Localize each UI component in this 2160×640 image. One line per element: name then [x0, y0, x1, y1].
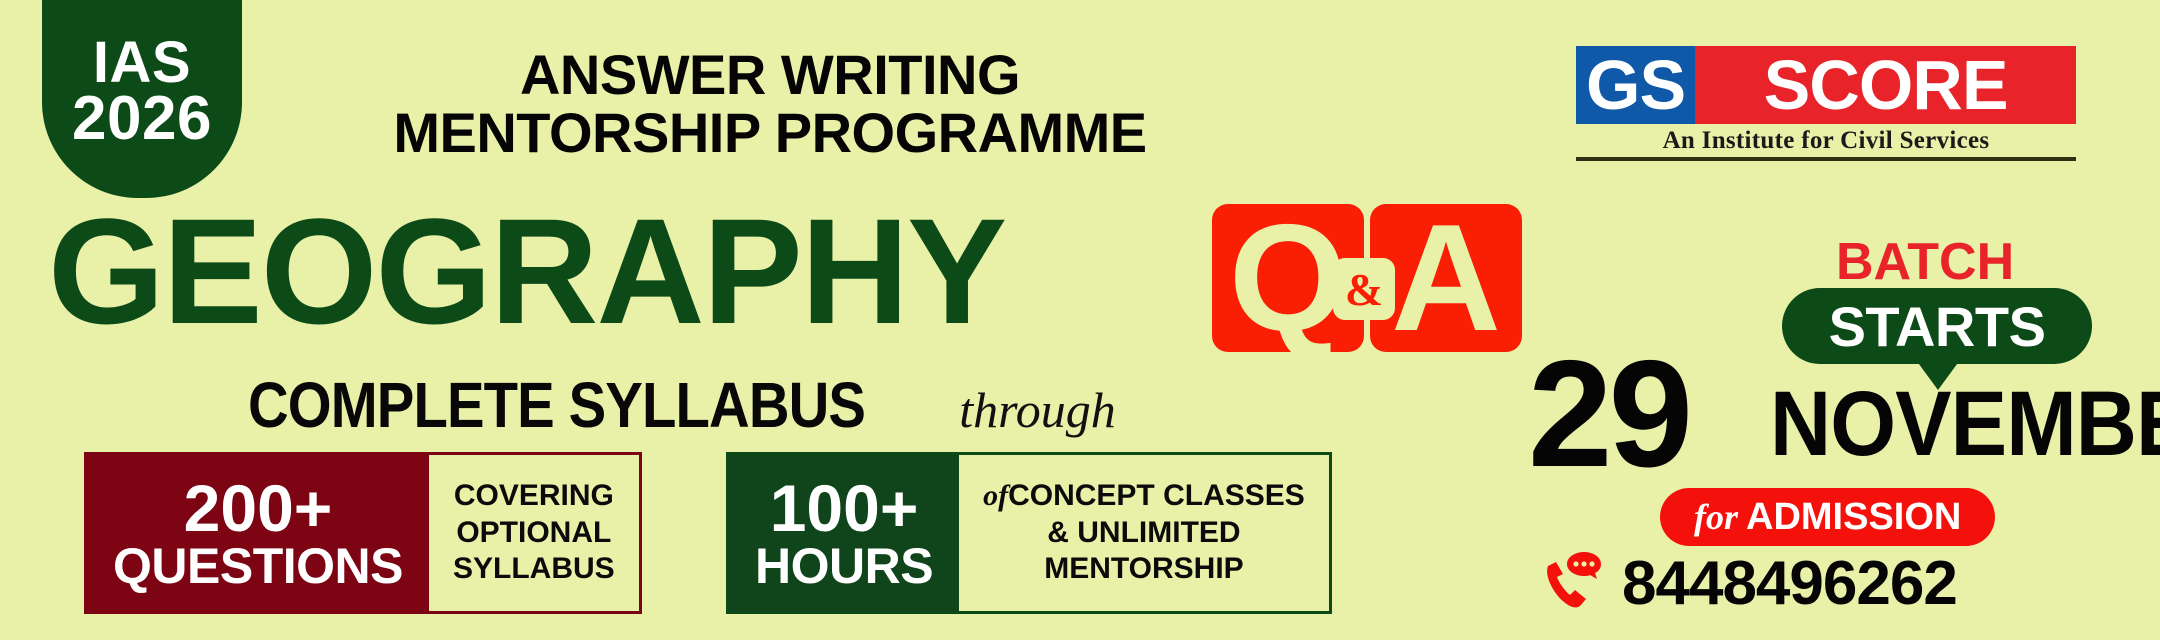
q-letter: Q [1229, 202, 1347, 354]
feature-questions: 200+ QUESTIONS COVERING OPTIONAL SYLLABU… [84, 452, 642, 614]
feature-hours-prefix: of [983, 479, 1008, 512]
through-text: through [959, 381, 1116, 439]
feature-questions-detail-1: COVERING [454, 478, 614, 515]
badge-line-2: 2026 [72, 90, 212, 149]
headline-line-1: ANSWER WRITING [330, 46, 1210, 104]
promo-banner: IAS 2026 ANSWER WRITING MENTORSHIP PROGR… [0, 0, 2160, 640]
badge-line-1: IAS [93, 35, 191, 90]
feature-questions-figure: 200+ QUESTIONS [87, 455, 429, 611]
feature-questions-detail: COVERING OPTIONAL SYLLABUS [429, 455, 639, 611]
feature-hours-detail-1-text: CONCEPT CLASSES [1008, 479, 1305, 512]
ias-year-badge: IAS 2026 [42, 0, 242, 198]
feature-hours-detail-1: ofCONCEPT CLASSES [983, 478, 1305, 515]
logo-underline-rule [1576, 157, 2076, 161]
ampersand-chip: & [1333, 258, 1395, 320]
feature-hours-figure: 100+ HOURS [729, 455, 959, 611]
logo-score-box: SCORE [1695, 46, 2076, 124]
syllabus-text: COMPLETE SYLLABUS [248, 368, 865, 442]
admission-pill[interactable]: for ADMISSION [1660, 488, 1995, 546]
feature-hours-detail-2: & UNLIMITED [1047, 515, 1240, 552]
logo-score-text: SCORE [1764, 50, 2008, 120]
logo-gs-text: GS [1586, 50, 1685, 120]
starts-label: STARTS [1829, 294, 2046, 359]
headline-line-2: MENTORSHIP PROGRAMME [330, 104, 1210, 162]
feature-hours-number: 100+ [770, 475, 919, 541]
feature-questions-number: 200+ [184, 475, 333, 541]
batch-label: BATCH [1836, 232, 2014, 292]
logo-gs-box: GS [1576, 46, 1695, 124]
a-letter: A [1391, 202, 1501, 354]
phone-chat-icon [1540, 550, 1614, 617]
starts-pill: STARTS [1782, 288, 2092, 364]
start-day: 29 [1528, 338, 1689, 490]
feature-hours-label: HOURS [755, 541, 933, 591]
start-month: NOVEMBER [1770, 378, 2160, 470]
logo-wordmark: GS SCORE [1576, 46, 2076, 124]
syllabus-subtitle: COMPLETE SYLLABUS through [248, 368, 1116, 442]
feature-hours-detail: ofCONCEPT CLASSES & UNLIMITED MENTORSHIP [959, 455, 1329, 611]
feature-questions-detail-3: SYLLABUS [453, 551, 615, 588]
feature-hours: 100+ HOURS ofCONCEPT CLASSES & UNLIMITED… [726, 452, 1332, 614]
admission-label: ADMISSION [1746, 496, 1961, 539]
gs-score-logo: GS SCORE An Institute for Civil Services [1576, 46, 2076, 161]
feature-questions-label: QUESTIONS [113, 541, 403, 591]
subject-title: GEOGRAPHY [48, 196, 1005, 346]
programme-headline: ANSWER WRITING MENTORSHIP PROGRAMME [330, 46, 1210, 161]
contact-phone-row[interactable]: 8448496262 [1540, 548, 1957, 619]
phone-number: 8448496262 [1622, 548, 1957, 619]
feature-hours-detail-3: MENTORSHIP [1044, 551, 1243, 588]
admission-prefix: for [1694, 496, 1738, 538]
feature-questions-detail-2: OPTIONAL [456, 515, 611, 552]
logo-tagline: An Institute for Civil Services [1576, 127, 2076, 155]
